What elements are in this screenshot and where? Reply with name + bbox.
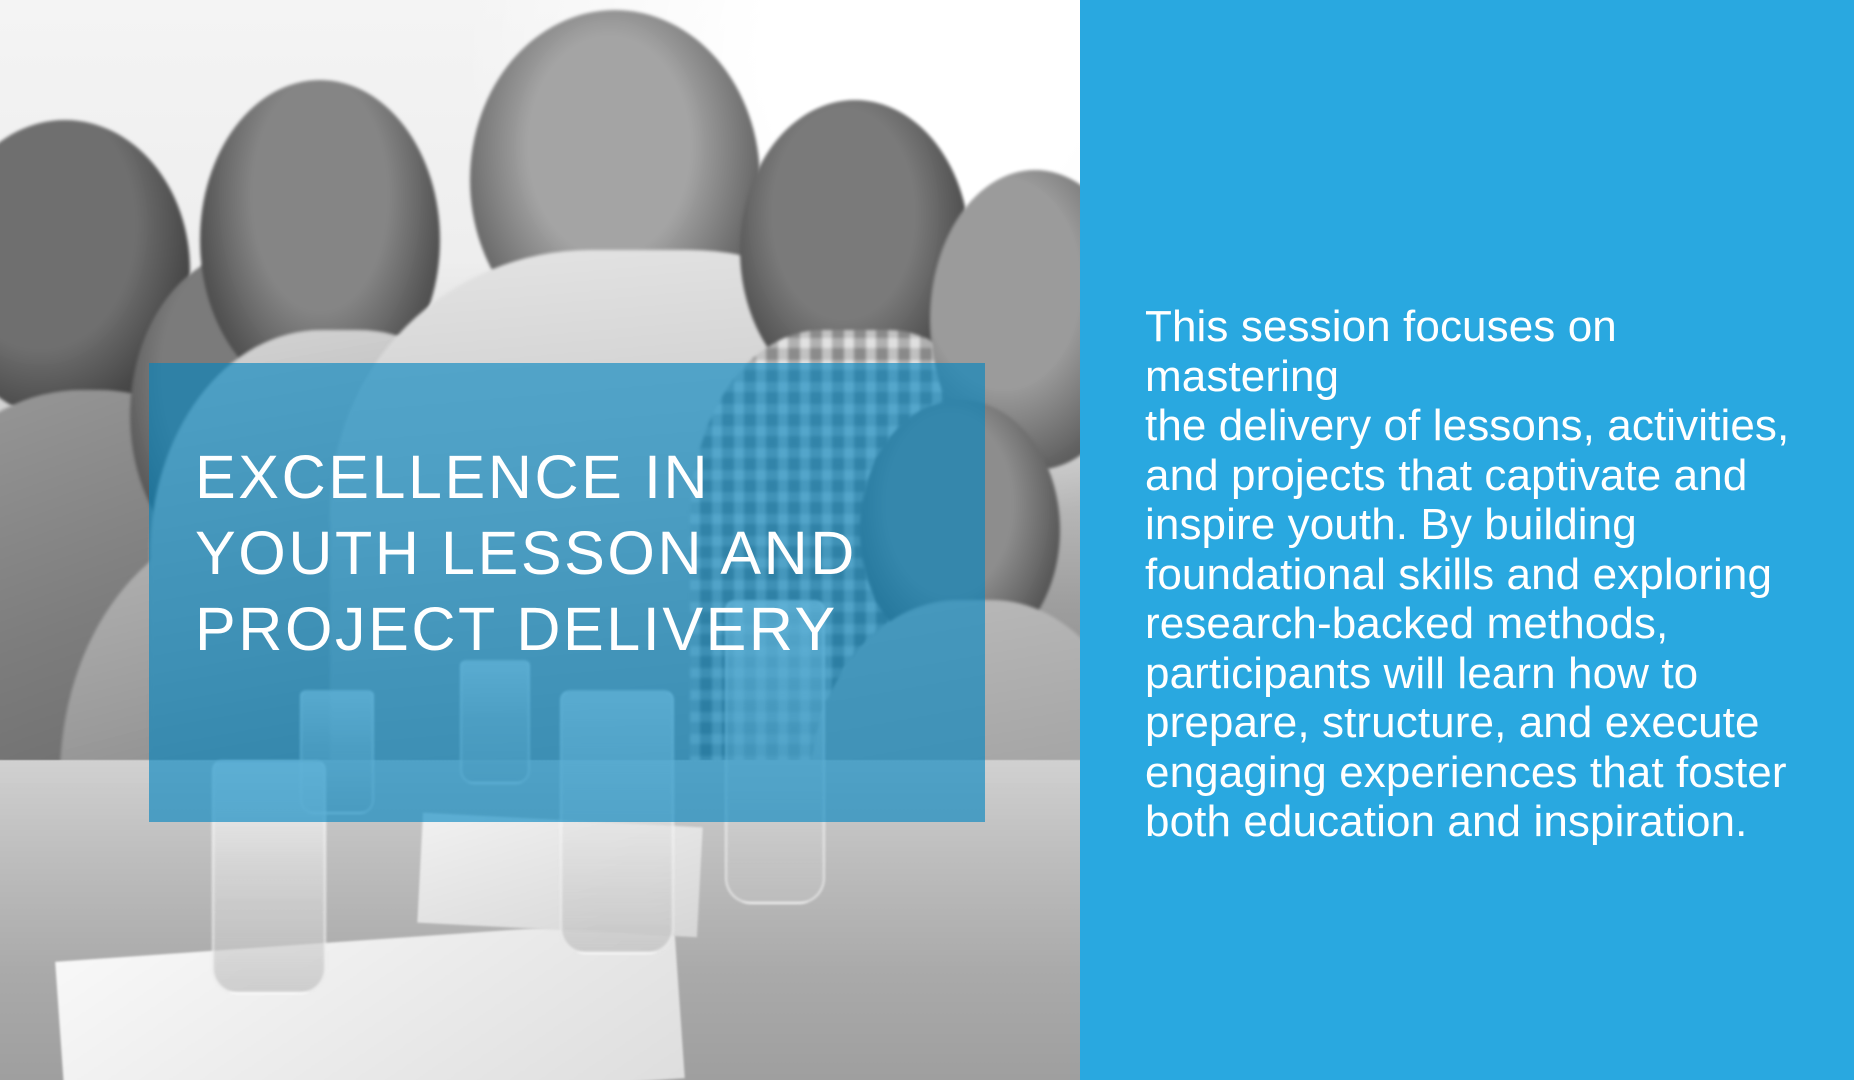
description-panel: This session focuses on mastering the de… [1080,0,1854,1080]
hero-photo: EXCELLENCE IN YOUTH LESSON AND PROJECT D… [0,0,1080,1080]
presentation-slide: EXCELLENCE IN YOUTH LESSON AND PROJECT D… [0,0,1854,1080]
slide-title: EXCELLENCE IN YOUTH LESSON AND PROJECT D… [195,439,985,667]
description-body-text: This session focuses on mastering the de… [1145,302,1805,847]
